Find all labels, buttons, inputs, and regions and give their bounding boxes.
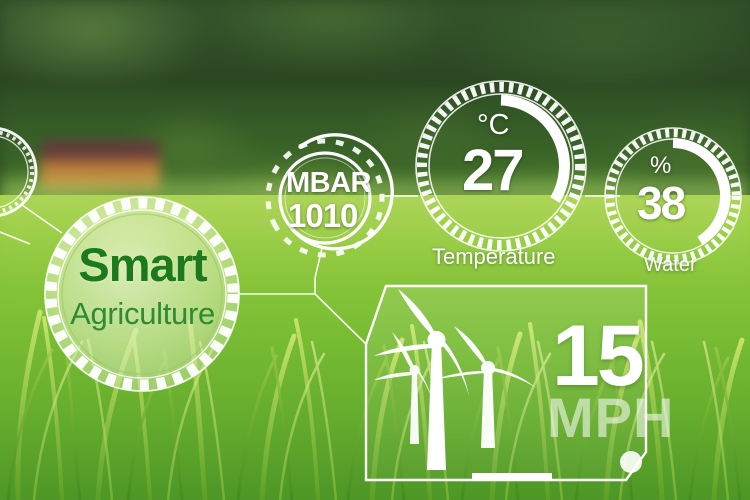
smart-agriculture-badge[interactable] <box>44 196 240 392</box>
screenshot-root: Smart Agriculture MBAR 1010 °C 27 Temper… <box>0 0 750 500</box>
wind-speed-unit: MPH <box>547 390 674 446</box>
temperature-value: 27 <box>462 137 523 204</box>
wind-panel-corner-dot <box>620 451 642 473</box>
edge-partial-gauge <box>0 128 36 216</box>
wind-panel-bottom-bar <box>472 473 552 481</box>
water-value: 38 <box>637 176 684 230</box>
brand-subtitle: Agriculture <box>40 296 245 332</box>
hud-overlay: Smart Agriculture MBAR 1010 °C 27 Temper… <box>0 0 750 500</box>
water-label: Water <box>644 254 697 277</box>
pressure-unit: MBAR <box>286 167 371 200</box>
brand-title: Smart <box>50 237 235 292</box>
pressure-value: 1010 <box>288 197 357 235</box>
temperature-label: Temperature <box>432 244 556 270</box>
